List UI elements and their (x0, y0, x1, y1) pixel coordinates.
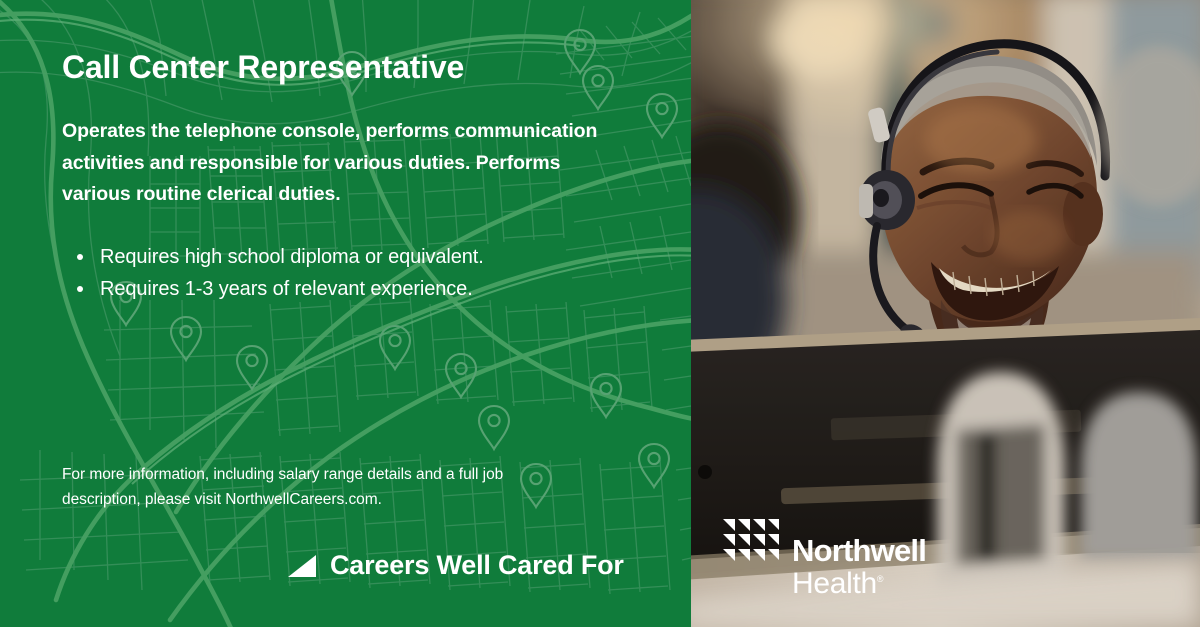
job-ad-banner: Call Center Representative Operates the … (0, 0, 1200, 627)
logo-wordmark: Northwell Health® (792, 535, 926, 599)
tagline-text: Careers Well Cared For (330, 550, 624, 581)
careers-tagline: Careers Well Cared For (288, 550, 624, 581)
requirement-text: Requires 1-3 years of relevant experienc… (100, 278, 473, 300)
list-item: Requires high school diploma or equivale… (62, 241, 622, 273)
requirement-text: Requires high school diploma or equivale… (100, 246, 484, 268)
trademark-symbol: ® (877, 574, 883, 584)
triangle-arrow-icon (288, 555, 316, 577)
bullet-dot-icon (77, 286, 83, 292)
green-content-panel: Call Center Representative Operates the … (0, 0, 691, 627)
requirements-list: Requires high school diploma or equivale… (62, 241, 622, 306)
northwell-health-logo: Northwell Health® (723, 519, 926, 599)
bullet-dot-icon (77, 254, 83, 260)
logo-northwell-text: Northwell (792, 535, 926, 566)
hero-photo: Northwell Health® (691, 0, 1200, 627)
northwell-triangles-grid-icon (723, 519, 779, 575)
job-summary: Operates the telephone console, performs… (62, 116, 622, 211)
list-item: Requires 1-3 years of relevant experienc… (62, 273, 622, 305)
logo-health-text: Health® (792, 569, 926, 599)
page-title: Call Center Representative (62, 50, 629, 85)
more-information-text: For more information, including salary r… (62, 462, 582, 512)
